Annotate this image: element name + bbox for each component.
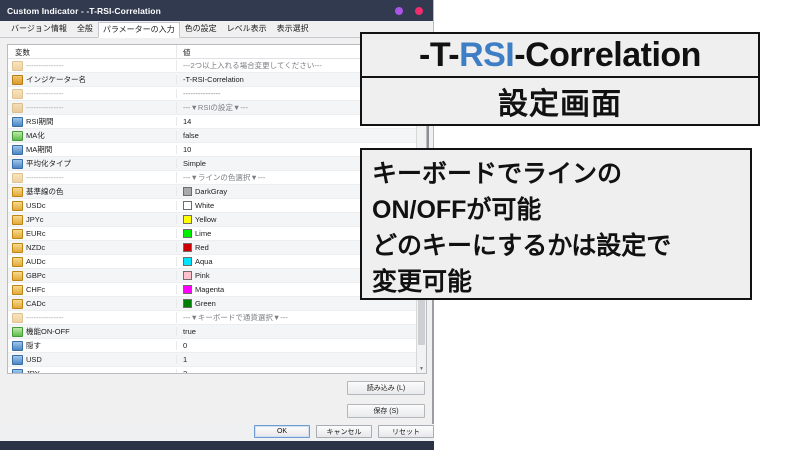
annotation-note-line-1: ON/OFFが可能	[372, 192, 740, 228]
row-value-label: ---2つ以上入れる場合変更してください---	[183, 60, 322, 71]
row-value-label: Lime	[195, 229, 211, 238]
row-variable-cell: RSI期間	[8, 116, 176, 127]
dialog-footer: OK キャンセル リセット	[0, 424, 434, 441]
annotation-subtitle-box: 設定画面	[360, 78, 760, 126]
row-variable-label: CADc	[26, 299, 46, 308]
row-variable-cell: MA化	[8, 130, 176, 141]
minimize-dot-icon[interactable]	[395, 7, 403, 15]
row-variable-label: ---------------	[26, 61, 63, 70]
tab-1[interactable]: 全般	[72, 21, 98, 37]
row-variable-label: USD	[26, 355, 42, 364]
row-variable-cell: CHFc	[8, 285, 176, 295]
row-variable-label: USDc	[26, 201, 46, 210]
row-variable-cell: MA期間	[8, 144, 176, 155]
table-row[interactable]: ------------------▼キーボードで通貨選択▼---	[8, 311, 426, 325]
row-value-label: 2	[183, 369, 187, 374]
row-variable-label: ---------------	[26, 89, 63, 98]
row-variable-label: JPY	[26, 369, 40, 374]
color-type-icon	[12, 271, 23, 281]
table-row[interactable]: 機能ON-OFFtrue	[8, 325, 426, 339]
row-variable-cell: JPYc	[8, 215, 176, 225]
row-value-label: White	[195, 201, 214, 210]
color-swatch-icon	[183, 271, 192, 280]
table-row[interactable]: USD1	[8, 353, 426, 367]
row-variable-label: ---------------	[26, 173, 63, 182]
table-row[interactable]: 隠す0	[8, 339, 426, 353]
row-value-label: ---▼ラインの色選択▼---	[183, 172, 265, 183]
row-value-label: ---▼RSIの設定▼---	[183, 102, 248, 113]
save-button[interactable]: 保存 (S)	[347, 404, 425, 418]
row-variable-cell: CADc	[8, 299, 176, 309]
cancel-button[interactable]: キャンセル	[316, 425, 372, 438]
row-variable-label: 基準線の色	[26, 186, 64, 197]
row-variable-cell: ---------------	[8, 103, 176, 113]
row-value-label: Yellow	[195, 215, 216, 224]
int-type-icon	[12, 355, 23, 365]
row-variable-cell: 平均化タイプ	[8, 158, 176, 169]
row-value-label: Green	[195, 299, 216, 308]
table-row[interactable]: MA化false	[8, 129, 426, 143]
tab-2[interactable]: パラメーターの入力	[98, 22, 180, 38]
callout-leader-line	[427, 126, 429, 150]
row-value-label: Aqua	[195, 257, 213, 266]
bool-type-icon	[12, 131, 23, 141]
bool-type-icon	[12, 327, 23, 337]
reset-button[interactable]: リセット	[378, 425, 434, 438]
int-type-icon	[12, 117, 23, 127]
row-variable-cell: AUDc	[8, 257, 176, 267]
annotation-note-box: キーボードでラインのON/OFFが可能どのキーにするかは設定で変更可能	[360, 148, 752, 300]
annotation-title-highlight: RSI	[459, 36, 514, 74]
string-type-icon	[12, 103, 23, 113]
color-type-icon	[12, 187, 23, 197]
scroll-down-arrow-icon[interactable]: ▼	[417, 364, 426, 373]
row-value-label: 14	[183, 117, 191, 126]
row-value-cell[interactable]: 1	[176, 355, 426, 364]
ok-button[interactable]: OK	[254, 425, 310, 438]
row-value-label: false	[183, 131, 199, 140]
dialog-title: Custom Indicator - -T-RSI-Correlation	[0, 6, 161, 16]
color-swatch-icon	[183, 229, 192, 238]
row-variable-cell: ---------------	[8, 89, 176, 99]
tab-4[interactable]: レベル表示	[222, 21, 272, 37]
callout-leader-line-2	[432, 300, 434, 424]
row-variable-label: 隠す	[26, 340, 41, 351]
tab-5[interactable]: 表示選択	[272, 21, 314, 37]
color-type-icon	[12, 299, 23, 309]
annotation-note-line-2: どのキーにするかは設定で	[372, 228, 740, 264]
string-type-icon	[12, 61, 23, 71]
annotation-title-text: -T-RSI-Correlation	[419, 36, 701, 75]
column-header-variable: 変数	[8, 45, 176, 58]
row-variable-cell: ---------------	[8, 61, 176, 71]
string-type-icon	[12, 173, 23, 183]
tab-0[interactable]: バージョン情報	[6, 21, 72, 37]
color-type-icon	[12, 243, 23, 253]
row-value-cell[interactable]: false	[176, 131, 426, 140]
color-type-icon	[12, 229, 23, 239]
string-type-icon	[12, 89, 23, 99]
row-value-cell[interactable]: 2	[176, 369, 426, 374]
row-variable-label: ---------------	[26, 103, 63, 112]
row-value-label: ---▼キーボードで通貨選択▼---	[183, 312, 288, 323]
row-value-label: 1	[183, 355, 187, 364]
annotation-note-line-3: 変更可能	[372, 264, 740, 300]
row-variable-label: AUDc	[26, 257, 46, 266]
row-variable-label: NZDc	[26, 243, 45, 252]
annotation-note-line-0: キーボードでラインの	[372, 156, 740, 192]
int-type-icon	[12, 369, 23, 375]
close-dot-icon[interactable]	[415, 7, 423, 15]
row-value-label: Simple	[183, 159, 206, 168]
annotation-title-box: -T-RSI-Correlation	[360, 32, 760, 78]
string-type-icon	[12, 313, 23, 323]
row-variable-cell: インジケーター名	[8, 74, 176, 85]
color-type-icon	[12, 201, 23, 211]
annotation-note-lines: キーボードでラインのON/OFFが可能どのキーにするかは設定で変更可能	[372, 156, 740, 300]
row-variable-cell: ---------------	[8, 313, 176, 323]
row-variable-cell: 隠す	[8, 340, 176, 351]
row-value-cell[interactable]: Green	[176, 299, 426, 308]
row-variable-label: MA期間	[26, 144, 52, 155]
annotation-subtitle-text: 設定画面	[498, 79, 622, 123]
color-swatch-icon	[183, 215, 192, 224]
row-variable-label: 機能ON-OFF	[26, 326, 70, 337]
screenshot-root: Custom Indicator - -T-RSI-Correlation バー…	[0, 0, 800, 450]
int-type-icon	[12, 341, 23, 351]
row-value-label: Pink	[195, 271, 210, 280]
row-value-cell[interactable]: true	[176, 327, 426, 336]
row-variable-label: インジケーター名	[26, 74, 86, 85]
tab-3[interactable]: 色の設定	[180, 21, 222, 37]
color-swatch-icon	[183, 243, 192, 252]
row-variable-label: RSI期間	[26, 116, 54, 127]
row-variable-label: MA化	[26, 130, 45, 141]
color-swatch-icon	[183, 285, 192, 294]
row-value-label: ---------------	[183, 89, 220, 98]
color-type-icon	[12, 285, 23, 295]
row-value-cell[interactable]: 0	[176, 341, 426, 350]
row-variable-cell: EURc	[8, 229, 176, 239]
row-variable-cell: ---------------	[8, 173, 176, 183]
color-swatch-icon	[183, 299, 192, 308]
row-variable-cell: 基準線の色	[8, 186, 176, 197]
row-variable-label: GBPc	[26, 271, 46, 280]
row-value-label: true	[183, 327, 196, 336]
color-type-icon	[12, 215, 23, 225]
row-variable-cell: GBPc	[8, 271, 176, 281]
row-value-label: DarkGray	[195, 187, 227, 196]
int-type-icon	[12, 145, 23, 155]
row-variable-cell: 機能ON-OFF	[8, 326, 176, 337]
color-swatch-icon	[183, 187, 192, 196]
annotation-title-prefix: -T-	[419, 36, 459, 74]
row-value-label: Magenta	[195, 285, 224, 294]
int-type-icon	[12, 159, 23, 169]
color-swatch-icon	[183, 257, 192, 266]
row-value-label: 10	[183, 145, 191, 154]
row-variable-label: JPYc	[26, 215, 44, 224]
row-variable-cell: JPY	[8, 369, 176, 375]
dialog-titlebar: Custom Indicator - -T-RSI-Correlation	[0, 0, 433, 21]
window-controls	[395, 0, 423, 21]
bottom-dark-bar	[0, 441, 434, 450]
row-value-cell[interactable]: ---▼キーボードで通貨選択▼---	[176, 312, 426, 323]
row-variable-cell: USD	[8, 355, 176, 365]
row-value-label: Red	[195, 243, 209, 252]
table-row[interactable]: JPY2	[8, 367, 426, 374]
string-type-icon	[12, 75, 23, 85]
annotation-title-suffix: -Correlation	[514, 36, 701, 74]
load-button[interactable]: 読み込み (L)	[347, 381, 425, 395]
row-value-label: -T-RSI-Correlation	[183, 75, 244, 84]
row-variable-label: 平均化タイプ	[26, 158, 71, 169]
row-variable-label: CHFc	[26, 285, 45, 294]
row-variable-cell: NZDc	[8, 243, 176, 253]
row-value-label: 0	[183, 341, 187, 350]
color-swatch-icon	[183, 201, 192, 210]
row-variable-cell: USDc	[8, 201, 176, 211]
row-variable-label: ---------------	[26, 313, 63, 322]
color-type-icon	[12, 257, 23, 267]
row-variable-label: EURc	[26, 229, 46, 238]
